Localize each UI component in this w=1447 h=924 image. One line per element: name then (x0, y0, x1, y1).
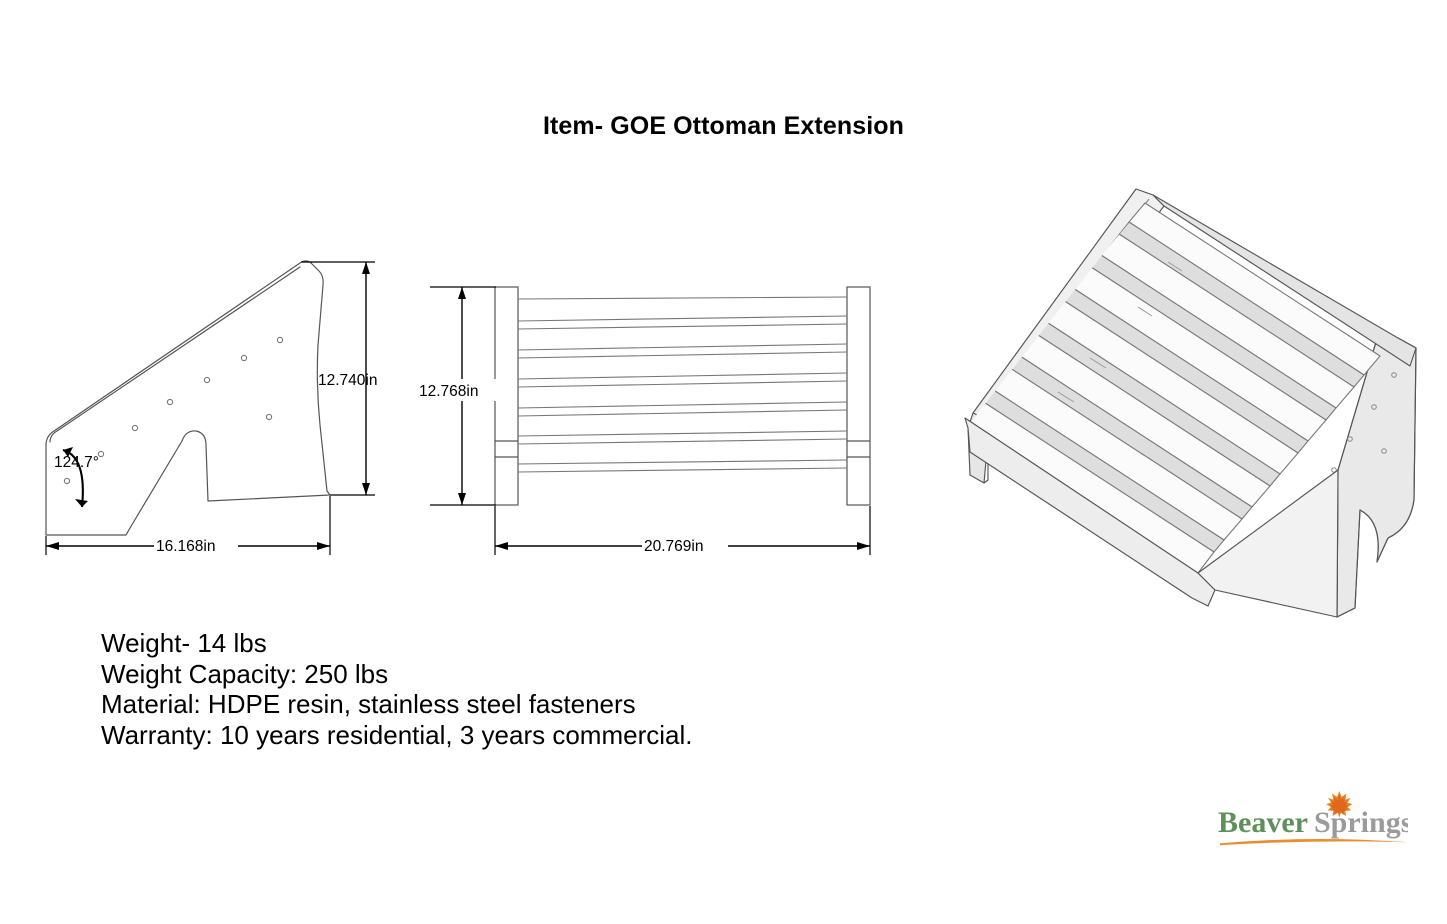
page-title: Item- GOE Ottoman Extension (0, 112, 1447, 141)
arrowhead-right (857, 542, 870, 550)
slat-edge (518, 381, 847, 387)
screw-hole (266, 414, 271, 419)
brand-logo: Beaver Springs (1218, 790, 1408, 846)
slat-edge (518, 468, 847, 472)
slat-edge (518, 297, 847, 299)
arrowhead-left (46, 542, 59, 550)
slat-edge (518, 402, 847, 408)
front-width-dimension: 20.769in (495, 506, 870, 555)
spec-line-weight-capacity: Weight Capacity: 250 lbs (101, 659, 692, 690)
front-width-label: 20.769in (644, 538, 703, 555)
slat-edge (518, 431, 847, 436)
screw-hole (167, 399, 172, 404)
specification-block: Weight- 14 lbs Weight Capacity: 250 lbs … (101, 628, 692, 750)
slat-edge (518, 324, 847, 329)
arrowhead-left (495, 542, 508, 550)
side-profile-view: 124.7° 12.740in 16.168in (30, 245, 390, 570)
logo-word-beaver: Beaver (1218, 806, 1308, 839)
slat-edge (518, 439, 847, 444)
slat-edge (518, 316, 847, 321)
arrowhead-right (317, 542, 330, 550)
side-length-label: 16.168in (156, 538, 215, 555)
angle-dimension-label: 124.7° (54, 454, 99, 471)
front-height-dimension: 12.768in (418, 287, 498, 505)
spec-line-weight: Weight- 14 lbs (101, 628, 692, 659)
screw-hole (204, 377, 209, 382)
side-height-dimension: 12.740in (301, 262, 377, 495)
slat-edge (518, 460, 847, 464)
front-height-label: 12.768in (419, 383, 478, 400)
logo-word-springs: Springs (1314, 806, 1408, 839)
spec-line-material: Material: HDPE resin, stainless steel fa… (101, 689, 692, 720)
side-length-dimension: 16.168in (46, 496, 330, 555)
slat-group (518, 297, 847, 472)
front-elevation-view: 12.768in 20.769in (410, 245, 880, 570)
angle-arrowhead-lower (75, 499, 88, 507)
slat-edge (518, 344, 847, 350)
right-post (847, 287, 870, 505)
side-height-label: 12.740in (318, 372, 377, 389)
front-frame (495, 287, 870, 505)
left-post (495, 287, 518, 505)
arrowhead-bottom (458, 493, 466, 505)
spec-line-warranty: Warranty: 10 years residential, 3 years … (101, 720, 692, 751)
slat-edge (518, 352, 847, 358)
side-panel-top-inner-edge (50, 267, 300, 442)
screw-hole (64, 478, 69, 483)
slat-edge (518, 410, 847, 416)
side-panel-outline (46, 261, 330, 535)
screw-hole (132, 425, 137, 430)
angle-annotation: 124.7° (54, 447, 99, 507)
screw-hole (241, 355, 246, 360)
technical-drawing-sheet: Item- GOE Ottoman Extension (0, 0, 1447, 924)
isometric-3d-view (940, 170, 1420, 675)
slat-edge (518, 373, 847, 379)
screw-hole (98, 451, 103, 456)
screw-hole (277, 337, 282, 342)
arrowhead-bottom (362, 483, 370, 495)
arrowhead-top (362, 262, 370, 274)
arrowhead-top (458, 287, 466, 299)
logo-underline-swoosh (1220, 839, 1406, 845)
